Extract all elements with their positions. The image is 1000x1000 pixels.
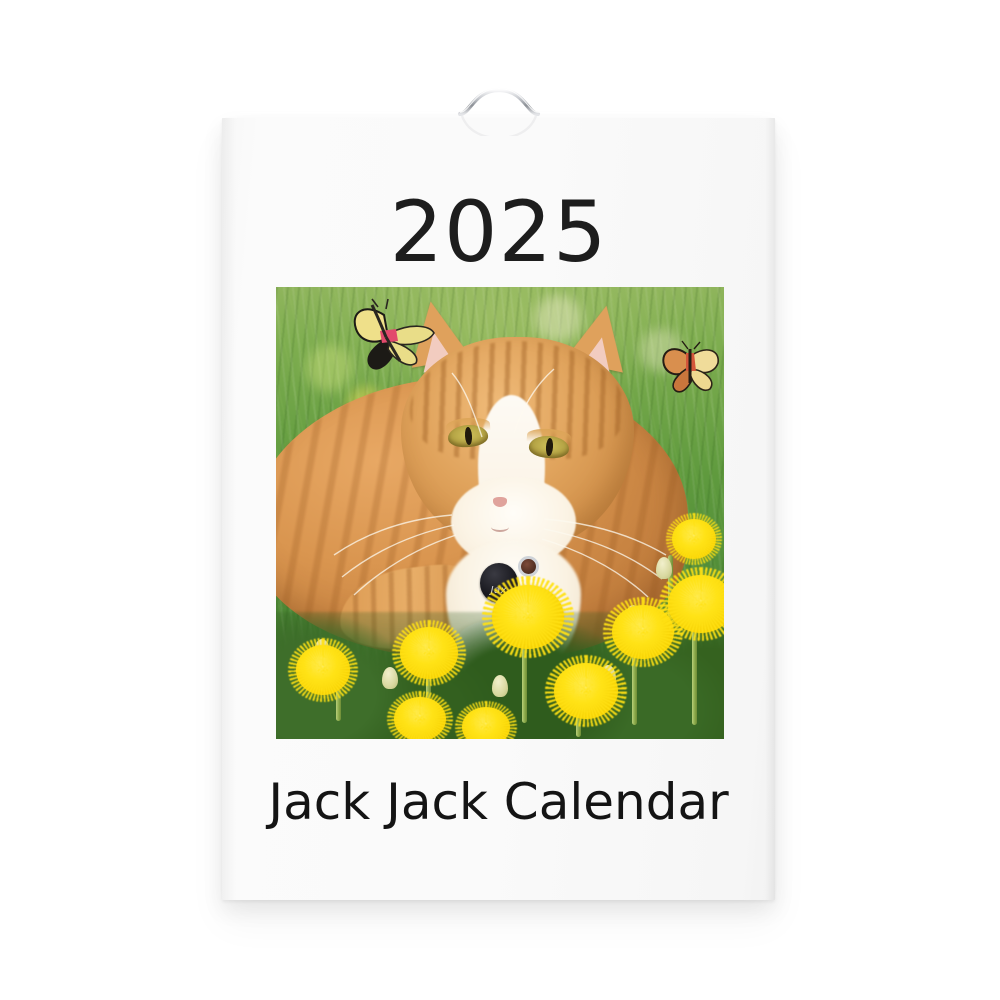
dandelion-flower (668, 575, 724, 633)
cover-photo-frame: Jax (276, 287, 724, 739)
dandelion-flower (400, 627, 458, 679)
dandelion-flower (672, 519, 716, 559)
monarch-butterfly (658, 339, 724, 397)
dandelion-flower (492, 585, 564, 649)
calendar-caption: Jack Jack Calendar (222, 773, 775, 831)
dandelion-flower (296, 645, 350, 695)
calendar-year-title: 2025 (222, 190, 775, 274)
swallowtail-butterfly (344, 297, 440, 377)
dandelion-bud (382, 667, 398, 689)
dandelion-bud (656, 557, 672, 579)
wire-spine-right (538, 112, 762, 114)
screenshot-canvas: 2025 (0, 0, 1000, 1000)
dandelion-bud (492, 675, 508, 697)
dandelion-flower (554, 663, 618, 719)
dandelion-flower (394, 697, 446, 739)
calendar-page: 2025 (222, 118, 775, 900)
cover-photo: Jax (276, 287, 724, 739)
dandelion-flower (462, 707, 510, 739)
wire-spine-left (240, 112, 460, 114)
